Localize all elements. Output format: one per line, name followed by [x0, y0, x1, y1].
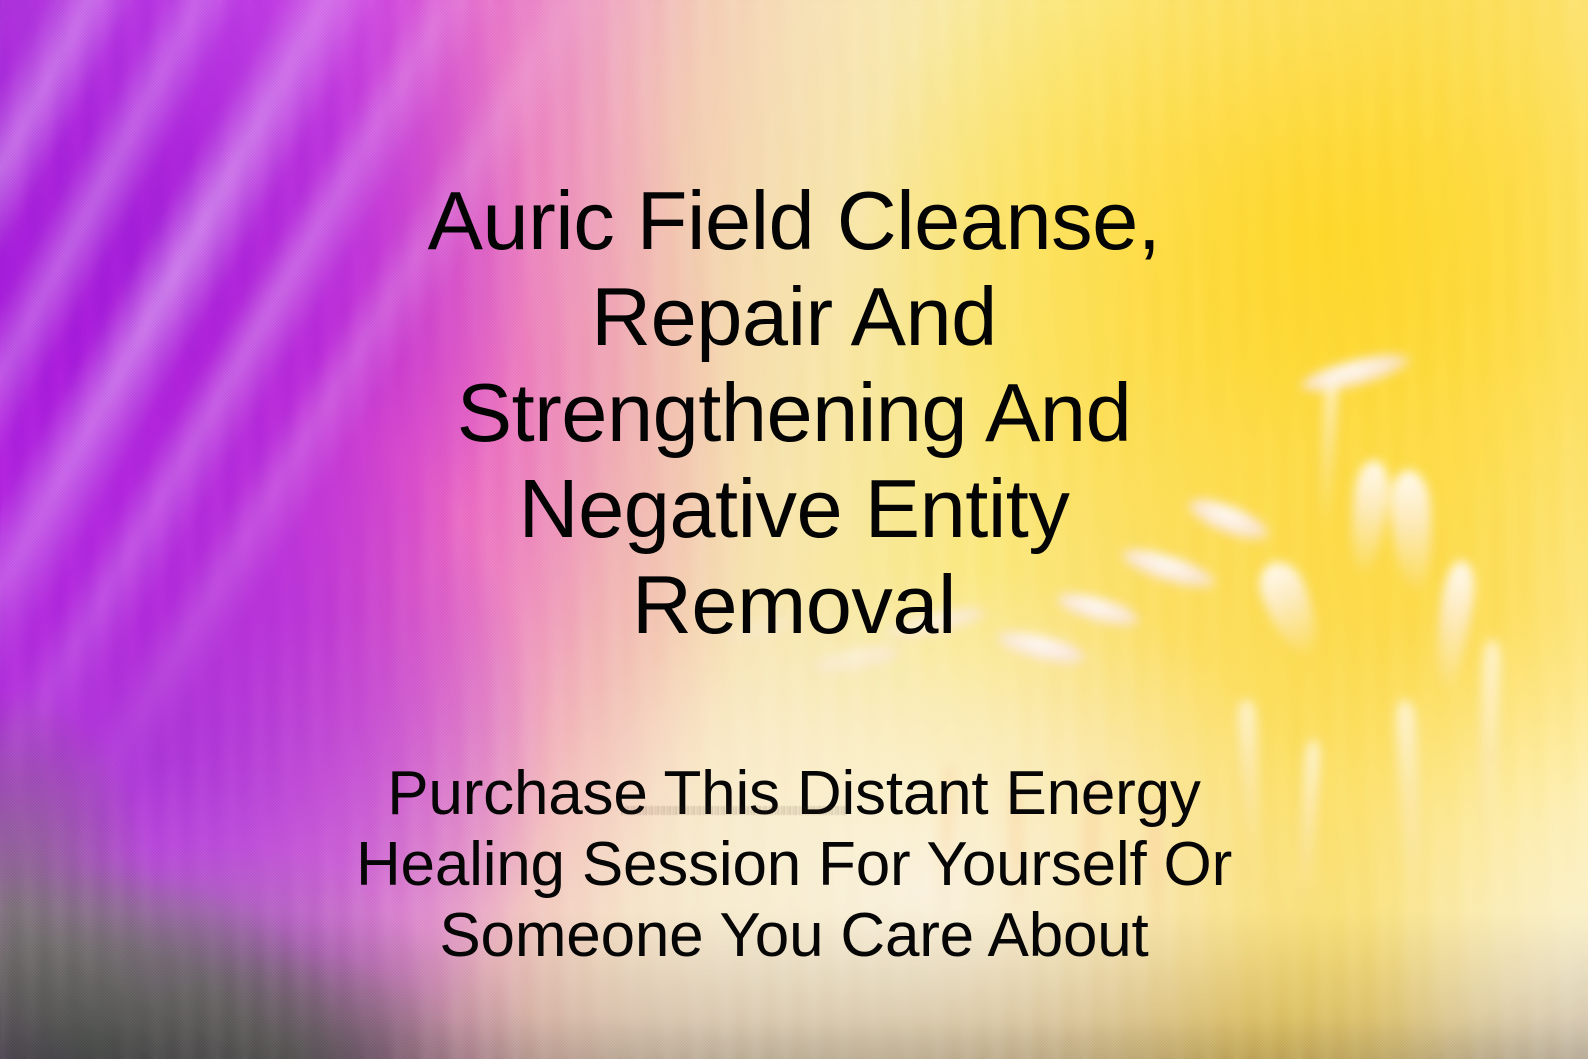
text-overlay: Auric Field Cleanse, Repair And Strength… [0, 0, 1588, 1059]
flyer-canvas: Auric Field Cleanse, Repair And Strength… [0, 0, 1588, 1059]
page-title: Auric Field Cleanse, Repair And Strength… [0, 173, 1588, 653]
subtitle-call-to-action: Purchase This Distant Energy Healing Ses… [0, 758, 1588, 971]
